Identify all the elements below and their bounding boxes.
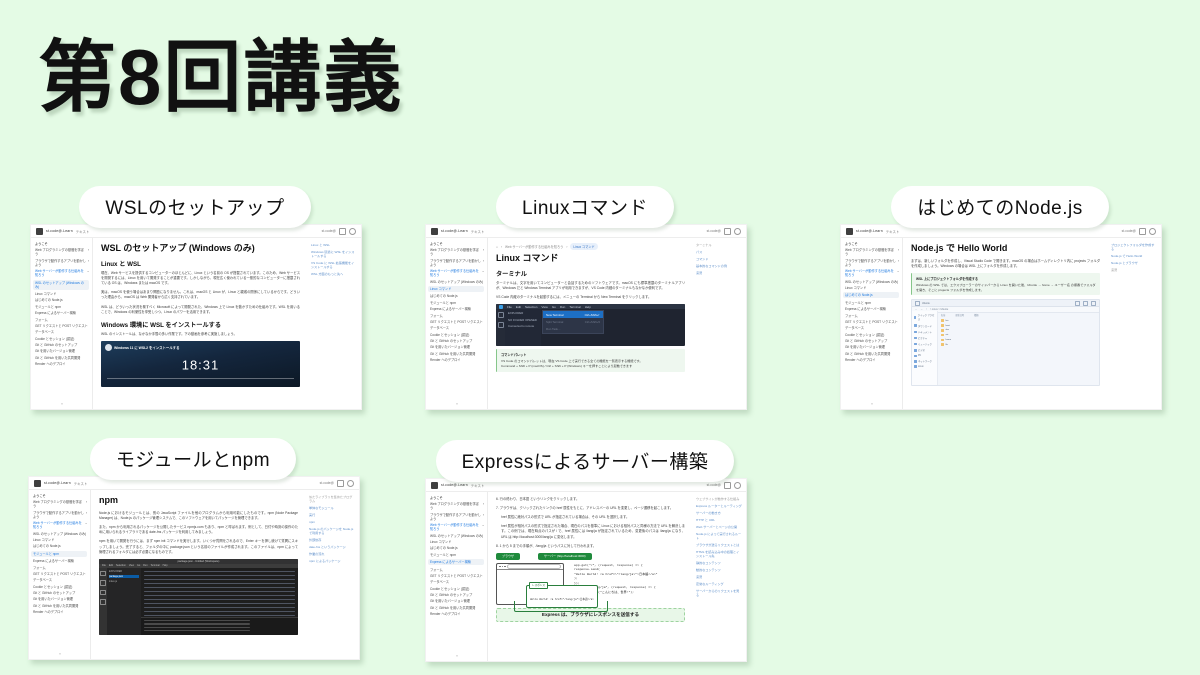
sidebar-item-5[interactable]: はじめての Node.js [33,544,87,548]
site-logo-icon [431,482,438,489]
sidebar-item-11[interactable]: Cookie とセッション (認証) [33,585,87,589]
account-label[interactable]: st.code@ [322,229,336,233]
table-of-contents[interactable]: 似たライブラリを集めたプログラム 単体なモジュール 実行 npm Node.js… [305,490,359,659]
step-1: 7. ブラウザは、クリックされたリンクの href 属性をもとに、アドレスバーの… [496,506,685,511]
site-nav-text[interactable]: テキスト [886,229,899,234]
document-icon [914,331,917,334]
sidebar-collapse-icon[interactable]: « [845,398,899,409]
chevron-right-icon[interactable]: › [483,248,484,252]
menu-option-split-terminal[interactable]: Split Terminal Ctrl+Shift+5 [543,318,603,325]
menu-option-new-terminal[interactable]: New Terminal Ctrl+Shift+\` [543,311,603,318]
gear-icon[interactable] [734,228,741,235]
pin-icon [914,316,916,319]
window-controls[interactable] [1075,301,1096,306]
ide-code-area[interactable] [141,568,298,617]
files-icon[interactable] [100,571,106,577]
ide-terminal-panel[interactable] [141,617,298,635]
sidebar-item-label: Web サーバーが動作する仕組みを知ろう [430,269,480,277]
explorer-file-list[interactable]: 名前 更新日時 種類 bin boot dev etc home lib [938,311,1099,385]
sidebar-item-3[interactable]: WSL のセットアップ (Windows のみ) [430,534,484,538]
callout-code-text: Command + Shift + P (macOS) / Ctrl + Shi… [501,364,681,369]
main-content: 6. 行の終わり、日本語 というリンクをクリックします。 7. ブラウザは、クリ… [488,492,692,661]
terminal-line [144,623,250,624]
toc-item-9[interactable]: 動的なコンテンツ [696,568,742,572]
toc-item-2[interactable]: Node.js とブラウザ [1111,261,1157,265]
sidebar-item-2[interactable]: Web サーバーが動作する仕組みを知ろう⌄ [33,521,87,529]
sidebar-item-10[interactable]: データベース [430,326,484,330]
step-4: 8. 1 から 5 までの手順が、/lang/ja というパスに対して行われます… [496,544,685,549]
sidebar-item-11[interactable]: Cookie とセッション (認証) [35,337,89,341]
toc-item-6[interactable]: ブラウザが送るリクエストとは [696,543,742,547]
account-label[interactable]: st.code@ [320,481,334,485]
sidebar-item-14[interactable]: Git と GitHub を用いた共同開発 [430,352,484,356]
external-link-icon[interactable] [724,482,731,489]
main-content: ⌂ › Web サーバーが動作する仕組みを知ろう › Linux コマンド Li… [488,238,692,409]
screenshot-first-nodejs[interactable]: st.code@.Learn テキスト st.code@ ようこそ Web プロ… [840,224,1162,410]
sidebar-item-7[interactable]: Express によるサーバー構築 [33,559,87,563]
account-label[interactable]: st.code@ [707,229,721,233]
chevron-down-icon[interactable]: ⌄ [87,269,89,273]
menu-item-run[interactable]: Run [560,305,566,309]
search-icon[interactable] [100,580,106,586]
sidebar-item-10[interactable]: データベース [35,330,89,334]
file-row[interactable]: bin [941,319,1096,322]
sidebar-item-14[interactable]: Git と GitHub を用いた共同開発 [430,606,484,610]
sidebar-item-15[interactable]: Render へのデプロイ [33,610,87,614]
sidebar-item-12[interactable]: Git と GitHub のセットアップ [33,591,87,595]
toc-item-0[interactable]: Linux と WSL [311,243,357,247]
callout-box: WSL 上にプロジェクトフォルダを作成する Windows の WSL では、エ… [911,273,1100,295]
sidebar-item-4[interactable]: Linux コマンド [35,292,89,296]
sidebar-item-11[interactable]: Cookie とセッション (認証) [430,333,484,337]
sidebar-item-9[interactable]: GET リクエストと POST リクエスト [845,320,899,324]
terminal-line [144,630,250,631]
chevron-right-icon[interactable]: › [483,259,484,263]
card-first-nodejs[interactable]: はじめてのNode.js st.code@.Learn テキスト st.code… [840,186,1160,410]
site-logo-icon [34,480,41,487]
toc-item-4[interactable]: Web サーバーとページの公開 [696,525,742,529]
video-embed[interactable]: Windows 11 に WSL2 をインストールする 18:31 [101,341,300,387]
response-bubble: レスポンス Hello World! <a href="/lang/ja">日本… [526,585,598,608]
pc-icon [914,355,917,358]
card-wsl-setup[interactable]: WSLのセットアップ st.code@.Learn テキスト st.code@ … [30,186,360,410]
sidebar-item-4[interactable]: Linux コマンド [33,538,87,542]
sidebar-item-1[interactable]: ブラウザで動作するアプリを動かしよう› [430,513,484,521]
column-name[interactable]: 名前 [941,313,945,317]
file-row[interactable]: etc [941,334,1096,337]
files-icon[interactable] [498,312,504,318]
sidebar-item-selected[interactable]: Express によるサーバー構築 [428,559,484,565]
sidebar-item-9[interactable]: GET リクエストと POST リクエスト [430,574,484,578]
toc-item-3[interactable]: HTTP と URL [696,518,742,522]
article-heading: Linux コマンド [496,253,685,264]
sidebar-item-15[interactable]: Render へのデプロイ [430,612,484,616]
toc-item-3[interactable]: 基本的なコマンドの例 [696,264,742,268]
file-list-header: 名前 更新日時 種類 [941,313,1096,317]
sidebar-item-5[interactable]: はじめての Node.js [430,294,484,298]
sidebar-item-label: ブラウザで動作するアプリを動かしよう [35,259,86,267]
toc-item-8[interactable]: 静的なコンテンツ [696,561,742,565]
file-row[interactable]: dev [941,329,1096,332]
sidebar-item-10[interactable]: データベース [845,326,899,330]
explorer-side-item-8[interactable]: Linux [914,365,935,368]
sidebar-item-label: Web サーバーが動作する仕組みを知ろう [35,269,85,277]
explorer-sidebar[interactable]: クイック アクセス ダウンロード ドキュメント ピクチャ ミュージック ビデオ … [912,311,938,385]
gear-icon[interactable] [734,482,741,489]
sidebar-item-12[interactable]: Git と GitHub のセットアップ [845,339,899,343]
sidebar-item-12[interactable]: Git と GitHub のセットアップ [35,343,89,347]
debug-icon[interactable] [100,599,106,605]
vscode-activitybar [496,309,505,346]
paragraph-3: WSL のインストールは、なかなか手間の多い作業です。下の動画を参考に実施しまし… [101,332,300,337]
sidebar-item-8[interactable]: フォーム [430,314,484,318]
sidebar-item-6[interactable]: モジュールと npm [35,305,89,309]
express-diagram: ブラウザ サーバー (http://localhost:3000) app.ge… [496,553,685,622]
toc-item-5[interactable]: Node.js によって実行されるルート [696,532,742,540]
table-of-contents[interactable]: ターミナル パス コマンド 基本的なコマンドの例 演習 [692,238,746,409]
toc-item-3[interactable]: npm [309,520,355,524]
toc-item-2[interactable]: 実行 [309,513,355,517]
toc-item-8[interactable]: npm によるパッケージ [309,559,355,563]
explorer-side-item-2[interactable]: ドキュメント [914,330,935,334]
sidebar-item-5[interactable]: はじめての Node.js [430,546,484,550]
sidebar-item-label: Web プログラミングの基礎を学ぼう [430,502,481,510]
file-row[interactable]: boot [941,324,1096,327]
code-line [144,579,295,581]
chevron-down-icon[interactable]: ⌄ [482,269,484,273]
breadcrumb[interactable]: ⌂ › Web サーバーが動作する仕組みを知ろう › Linux コマンド [496,243,685,250]
address-bar[interactable] [507,564,561,568]
file-name: bin [946,320,949,322]
external-link-icon[interactable] [337,480,344,487]
sidebar-item-6[interactable]: モジュールと npm [430,553,484,557]
folder-icon [941,339,944,342]
sidebar-item-8[interactable]: フォーム [845,314,899,318]
maximize-icon[interactable] [1083,301,1088,306]
main-content: WSL のセットアップ (Windows のみ) Linux と WSL 現在、… [93,238,307,409]
table-of-contents[interactable]: プロジェクトフォルダを作成する Node.js で Hello World No… [1107,238,1161,409]
sidebar[interactable]: ようこそ Web プログラミングの基礎を学ぼう› ブラウザで動作するアプリを動か… [31,238,93,409]
toc-item-7[interactable]: HTML を読み込み中の処理とインストール先 [696,550,742,558]
menu-item-view[interactable]: View [541,305,547,309]
sidebar-item-13[interactable]: Git を用いたバージョン管理 [35,349,89,353]
column-type[interactable]: 種類 [974,313,978,317]
explorer-side-item-5[interactable]: ビデオ [914,348,935,352]
sidebar-item-3[interactable]: WSL のセットアップ (Windows のみ) [845,280,899,284]
menu-item-help[interactable]: Help [585,305,591,309]
explorer-side-label: ミュージック [918,342,932,346]
toc-item-7[interactable]: 作業の流れ [309,552,355,556]
pill-wrapper: Expressによるサーバー構築 [425,440,745,482]
site-brand: st.code@.Learn [441,229,468,233]
site-brand: st.code@.Learn [44,481,71,485]
sidebar-item-14[interactable]: Git と GitHub を用いた共同開発 [845,352,899,356]
menu-item-go[interactable]: Go [552,305,556,309]
sidebar-item-3[interactable]: WSL のセットアップ (Windows のみ) [430,280,484,284]
sidebar[interactable]: ようこそ Web プログラミングの基礎を学ぼう› ブラウザで動作するアプリを動か… [841,238,903,409]
vscode-terminal-screenshot: File Edit Selection View Go Run Terminal… [496,304,685,346]
sidebar-item-10[interactable]: データベース [430,580,484,584]
sidebar-item-1[interactable]: ブラウザで動作するアプリを動かしよう› [845,259,899,267]
sidebar-item-0[interactable]: Web プログラミングの基礎を学ぼう› [35,248,89,256]
sidebar-item-8[interactable]: フォーム [35,318,89,322]
toc-item-1[interactable]: Windows 環境に WSL をインストールする [311,250,357,258]
traffic-light-icon [502,566,504,568]
toc-item-1[interactable]: パス [696,250,742,254]
sidebar-item-2[interactable]: Web サーバーが動作する仕組みを知ろう⌄ [845,269,899,277]
gear-icon[interactable] [1149,228,1156,235]
chevron-down-icon[interactable]: ⌄ [897,269,899,273]
sidebar-item-label: Web サーバーが動作する仕組みを知ろう [845,269,895,277]
code-line [144,591,295,593]
card-label-linux-commands[interactable]: Linuxコマンド [496,186,674,228]
code-line [144,583,295,585]
card-express-server[interactable]: Expressによるサーバー構築 st.code@.Learn テキスト st.… [425,440,745,662]
site-brand: st.code@.Learn [856,229,883,233]
header-right: st.code@ [707,228,741,235]
file-row[interactable]: home [941,339,1096,342]
sidebar-collapse-icon[interactable]: « [35,398,89,409]
chevron-down-icon[interactable]: ⌄ [85,521,87,525]
sidebar-item-1[interactable]: ブラウザで動作するアプリを動かしよう› [33,511,87,519]
video-progress-bar[interactable] [107,378,294,379]
card-modules-npm[interactable]: モジュールとnpm st.code@.Learn テキスト st.code@ よ… [28,438,358,660]
sidebar-item-10[interactable]: データベース [33,578,87,582]
sidebar-item-label: Web プログラミングの基礎を学ぼう [33,500,84,508]
sidebar-item-4[interactable]: Linux コマンド [845,286,899,290]
sidebar-item-8[interactable]: フォーム [430,568,484,572]
screenshot-modules-npm[interactable]: st.code@.Learn テキスト st.code@ ようこそ Web プロ… [28,476,360,660]
sidebar-item-6[interactable]: モジュールと npm [845,301,899,305]
card-label-first-nodejs[interactable]: はじめてのNode.js [891,186,1108,228]
toc-item-0[interactable]: 似たライブラリを集めたプログラム [309,495,355,503]
sidebar-item-1[interactable]: ブラウザで動作するアプリを動かしよう› [430,259,484,267]
menu-option-run-task[interactable]: Run Task... [543,326,603,333]
page-body: ようこそ Web プログラミングの基礎を学ぼう› ブラウザで動作するアプリを動か… [31,238,361,409]
page-mock: st.code@.Learn テキスト st.code@ ようこそ Web プロ… [841,225,1161,409]
card-label-express-server[interactable]: Expressによるサーバー構築 [436,440,735,482]
step-3: href 属性が相対パスの形式で指定された場合、現在のパスを基準に Linux … [496,524,685,539]
sidebar-item-15[interactable]: Render へのデプロイ [430,358,484,362]
callout-box: コマンドパレット VS Code のコマンドパレットは、現在 VS Code 上… [496,349,685,371]
sidebar-item-label: ブラウザで動作するアプリを動かしよう [33,511,84,519]
card-linux-commands[interactable]: Linuxコマンド st.code@.Learn テキスト st.code@ よ… [425,186,745,410]
sidebar-item-15[interactable]: Render へのデプロイ [845,358,899,362]
external-link-icon[interactable] [339,228,346,235]
sidebar-item-selected[interactable]: Linux コマンド [428,286,484,292]
breadcrumb-item-0[interactable]: Web サーバーが動作する仕組みを知ろう [505,244,563,249]
explorer-side-item-6[interactable]: PC [914,355,935,358]
sidebar-item-13[interactable]: Git を用いたバージョン管理 [430,599,484,603]
terminal-dropdown-menu[interactable]: New Terminal Ctrl+Shift+\` Split Termina… [542,310,604,334]
card-label-wsl-setup[interactable]: WSLのセットアップ [79,186,310,228]
account-label[interactable]: st.code@ [707,483,721,487]
paragraph-0: 現在、Web サービスを提供するコンピューターのほとんどに、Linux という名… [101,271,300,286]
sidebar-item-1[interactable]: ブラウザで動作するアプリを動かしよう› [35,259,89,267]
sidebar-item-0[interactable]: Web プログラミングの基礎を学ぼう› [430,502,484,510]
sidebar-item-13[interactable]: Git を用いたバージョン管理 [845,345,899,349]
toc-item-1[interactable]: 単体なモジュール [309,506,355,510]
sidebar-item-5[interactable]: はじめての Node.js [35,298,89,302]
toc-item-2[interactable]: コマンド [696,257,742,261]
search-icon[interactable] [498,322,504,328]
toc-item-2[interactable]: VS Code に WSL 拡張機能をインストールする [311,261,357,269]
sidebar-item-7[interactable]: Express によるサーバー構築 [430,307,484,311]
sidebar-item-8[interactable]: フォーム [33,566,87,570]
minimize-icon[interactable] [1075,301,1080,306]
terminal-line [144,627,250,628]
table-of-contents[interactable]: ウェブサイトが動作する仕組み Express ルーターとルーティング サーバーの… [692,492,746,661]
callout-title: WSL 上にプロジェクトフォルダを作成する [916,276,1096,281]
gear-icon[interactable] [349,228,356,235]
paragraph-0: ターミナルは、文字を用いてコンピューターと会話するためのソフトウェアです。mac… [496,281,685,291]
sidebar-item-0[interactable]: Web プログラミングの基礎を学ぼう› [33,500,87,508]
toc-item-0[interactable]: ターミナル [696,243,742,247]
site-nav-text[interactable]: テキスト [76,229,89,234]
sidebar-item-9[interactable]: GET リクエストと POST リクエスト [33,572,87,576]
chevron-right-icon[interactable]: › [483,502,484,506]
article-heading: WSL のセットアップ (Windows のみ) [101,243,300,254]
sidebar-item-label: Web サーバーが動作する仕組みを知ろう [430,523,480,531]
external-link-icon[interactable] [1139,228,1146,235]
toc-item-11[interactable]: 定常なルーティング [696,582,742,586]
menu-item-terminal[interactable]: Terminal [569,305,580,309]
page-mock: st.code@.Learn テキスト st.code@ ようこそ Web プロ… [31,225,361,409]
sidebar-item-13[interactable]: Git を用いたバージョン管理 [430,345,484,349]
sidebar-item-0[interactable]: Web プログラミングの基礎を学ぼう› [845,248,899,256]
close-icon[interactable] [1091,301,1096,306]
menu-item-selection[interactable]: Selection [525,305,537,309]
sidebar-item-11[interactable]: Cookie とセッション (認証) [430,587,484,591]
sidebar-item-0[interactable]: Web プログラミングの基礎を学ぼう› [430,248,484,256]
label-server: サーバー (http://localhost:3000) [538,553,592,560]
sidebar-item-6[interactable]: モジュールと npm [430,301,484,305]
sidebar-item-14[interactable]: Git と GitHub を用いた共同開発 [33,604,87,608]
chevron-right-icon[interactable]: › [898,248,899,252]
explorer-file[interactable]: index.js [109,580,139,583]
sidebar-item-12[interactable]: Git と GitHub のセットアップ [430,593,484,597]
section-heading-1: Linux と WSL [101,259,300,268]
sidebar-item-2[interactable]: Web サーバーが動作する仕組みを知ろう⌄ [430,523,484,531]
chevron-right-icon[interactable]: › [86,500,87,504]
source-control-icon[interactable] [100,590,106,596]
ide-explorer[interactable]: EXPLORERpackage.jsonindex.js [107,568,141,635]
sidebar-item-7[interactable]: Express によるサーバー構築 [845,307,899,311]
explorer-side-item-4[interactable]: ミュージック [914,342,935,346]
toc-item-4[interactable]: 演習 [696,271,742,275]
chevron-right-icon[interactable]: › [898,259,899,263]
sidebar-item-2[interactable]: Web サーバーが動作する仕組みを知ろう⌄ [430,269,484,277]
gear-icon[interactable] [347,480,354,487]
screenshot-linux-commands[interactable]: st.code@.Learn テキスト st.code@ ようこそ Web プロ… [425,224,747,410]
sidebar[interactable]: ようこそ Web プログラミングの基礎を学ぼう› ブラウザで動作するアプリを動か… [29,490,91,659]
sidebar-item-12[interactable]: Git と GitHub のセットアップ [430,339,484,343]
external-link-icon[interactable] [724,228,731,235]
response-tag: レスポンス [529,582,548,589]
toc-item-4[interactable]: Node.js のパッケージを Node.js で利用する [309,527,355,535]
sidebar-item-selected[interactable]: WSL のセットアップ (Windows のみ) [33,280,89,290]
chevron-down-icon[interactable]: ⌄ [482,523,484,527]
folder-icon [941,334,944,337]
sidebar-item-selected[interactable]: モジュールと npm [31,551,87,557]
sidebar-item-11[interactable]: Cookie とセッション (認証) [845,333,899,337]
explorer-side-item-7[interactable]: ネットワーク [914,359,935,363]
sidebar-item-4[interactable]: Linux コマンド [430,540,484,544]
sidebar-item-13[interactable]: Git を用いたバージョン管理 [33,597,87,601]
sidebar-collapse-icon[interactable]: « [430,650,484,661]
explorer-item-0[interactable]: NO FOLDER OPENED [508,318,539,322]
toc-item-5[interactable]: 外部依存 [309,538,355,542]
chevron-right-icon[interactable]: › [86,511,87,515]
explorer-side-item-1[interactable]: ダウンロード [914,324,935,328]
paragraph-1: VS Code 内蔵のターミナルを起動するには、メニューの Terminal か… [496,295,685,300]
file-row[interactable]: lib [941,343,1096,346]
sidebar-item-2[interactable]: Web サーバーが動作する仕組みを知ろう⌄ [35,269,89,277]
folder-icon [941,329,944,332]
windows-explorer-screenshot: Ubuntu ← → ↑ > Linux > Ubuntu クイック アクセス [911,299,1100,386]
sidebar-item-3[interactable]: WSL のセットアップ (Windows のみ) [33,532,87,536]
sidebar-collapse-icon[interactable]: « [33,648,87,659]
toc-item-10[interactable]: 演習 [696,575,742,579]
sidebar-item-9[interactable]: GET リクエストと POST リクエスト [430,320,484,324]
chevron-right-icon[interactable]: › [88,248,89,252]
toc-item-1[interactable]: Express ルーターとルーティング [696,504,742,508]
sidebar-item-15[interactable]: Render へのデプロイ [35,362,89,366]
explorer-side-label: Linux [918,366,924,368]
sidebar[interactable]: ようこそ Web プログラミングの基礎を学ぼう› ブラウザで動作するアプリを動か… [426,238,488,409]
sidebar-item-9[interactable]: GET リクエストと POST リクエスト [35,324,89,328]
toc-item-3[interactable]: WSL 方面のもっと先へ [311,272,357,276]
explorer-side-item-3[interactable]: ピクチャ [914,336,935,340]
home-icon[interactable]: ⌂ [496,245,498,249]
toc-item-0[interactable]: プロジェクトフォルダを作成する [1111,243,1157,251]
screenshot-express-server[interactable]: st.code@.Learn テキスト st.code@ ようこそ Web プロ… [425,478,747,662]
table-of-contents[interactable]: Linux と WSL Windows 環境に WSL をインストールする VS… [307,238,361,409]
sidebar[interactable]: ようこそ Web プログラミングの基礎を学ぼう› ブラウザで動作するアプリを動か… [426,492,488,661]
chevron-right-icon[interactable]: › [483,513,484,517]
sidebar-item-7[interactable]: Express によるサーバー構築 [35,311,89,315]
sidebar-title: ようこそ [35,242,89,246]
toc-item-1[interactable]: Node.js で Hello World [1111,254,1157,258]
sidebar-item-selected[interactable]: はじめての Node.js [843,292,899,298]
explorer-file-selected[interactable]: package.json [109,575,139,578]
toc-item-6[interactable]: date-fns というパッケージ [309,545,355,549]
account-label[interactable]: st.code@ [1122,229,1136,233]
toc-item-2[interactable]: サーバーの動き方 [696,511,742,515]
toc-item-3[interactable]: 演習 [1111,268,1157,272]
column-modified[interactable]: 更新日時 [955,313,964,317]
chevron-right-icon[interactable]: › [88,259,89,263]
screenshot-wsl-setup[interactable]: st.code@.Learn テキスト st.code@ ようこそ Web プロ… [30,224,362,410]
site-nav-text[interactable]: テキスト [471,229,484,234]
sidebar-collapse-icon[interactable]: « [430,398,484,409]
ide-activitybar[interactable] [99,568,107,635]
file-name: home [946,339,951,341]
menu-item-edit[interactable]: Edit [516,305,521,309]
breadcrumb-item-1[interactable]: Linux コマンド [570,243,597,250]
site-nav-text[interactable]: テキスト [74,481,87,486]
toc-item-12[interactable]: サーバーからのリクエストを見る [696,589,742,597]
sidebar-title: ようこそ [430,242,484,246]
traffic-light-icon [499,566,501,568]
file-name: etc [946,334,949,336]
card-label-modules-npm[interactable]: モジュールとnpm [90,438,296,480]
toc-item-0[interactable]: ウェブサイトが動作する仕組み [696,497,742,501]
site-nav-text[interactable]: テキスト [471,483,484,488]
explorer-side-item-0[interactable]: クイック アクセス [914,313,935,321]
menu-item-file[interactable]: File [507,305,512,309]
sidebar-item-14[interactable]: Git と GitHub を用いた共同開発 [35,356,89,360]
